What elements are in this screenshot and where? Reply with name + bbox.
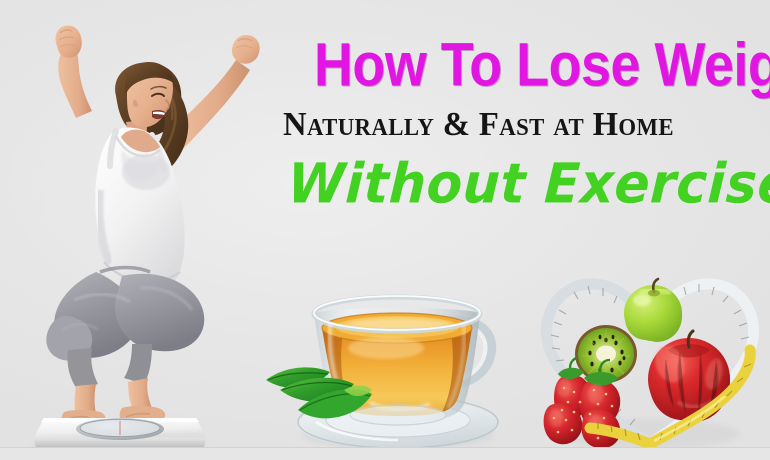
headline-line-2: Naturally & Fast at Home (283, 108, 674, 142)
headline-line-3: Without Exercise (286, 157, 770, 212)
glass-teacup-with-green-tea (258, 262, 538, 460)
woman-celebrating-on-scale (0, 0, 300, 460)
weight-loss-banner: How To Lose Weight Naturally & Fast at H… (0, 0, 770, 460)
headline-block: How To Lose Weight Naturally & Fast at H… (280, 24, 770, 234)
fruit-heart-measuring-tape (528, 248, 770, 460)
bottom-strip (0, 448, 770, 460)
headline-line-1: How To Lose Weight (314, 34, 770, 96)
